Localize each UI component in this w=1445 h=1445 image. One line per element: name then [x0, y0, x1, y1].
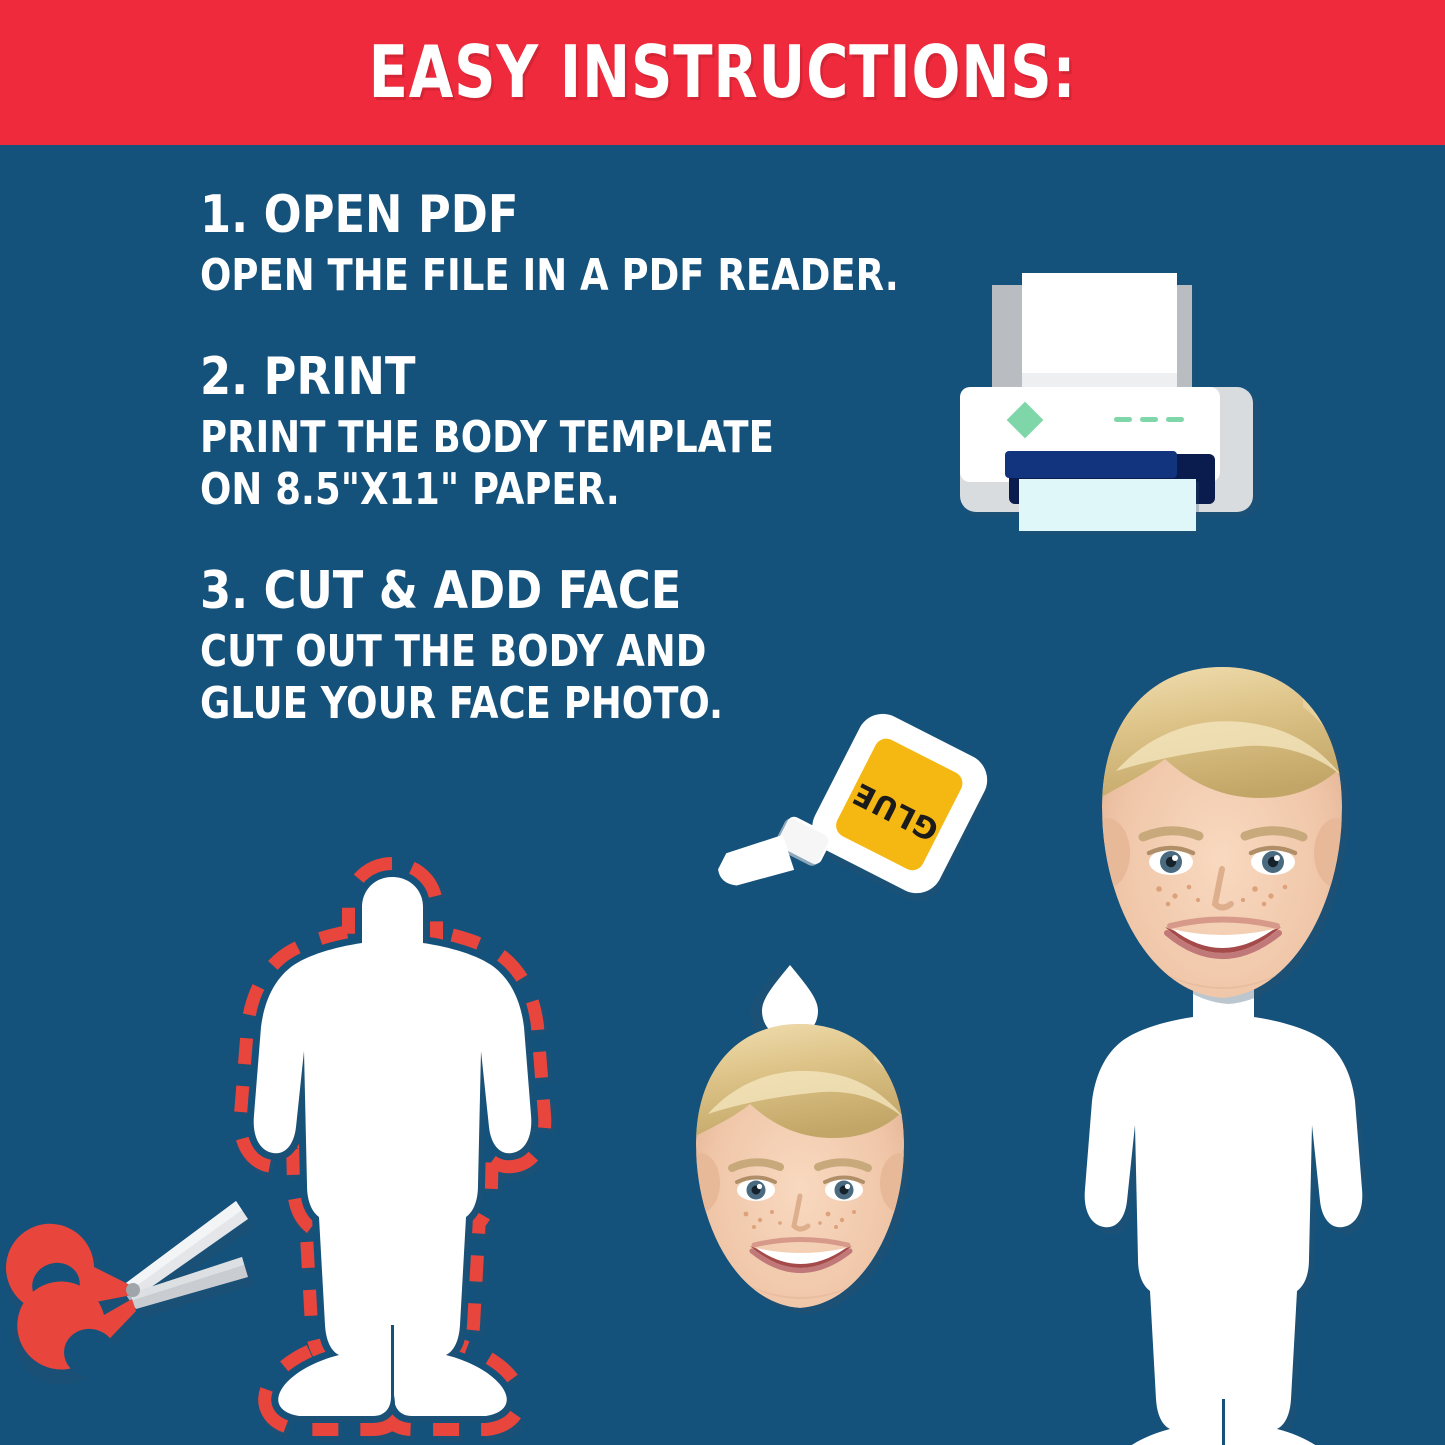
body-template-illustration — [215, 855, 570, 1445]
page-title: EASY INSTRUCTIONS: — [145, 30, 1301, 114]
poster-canvas: EASY INSTRUCTIONS: 1. OPEN PDF OPEN THE … — [0, 0, 1445, 1445]
step-3-line-1: CUT OUT THE BODY AND — [200, 626, 939, 678]
step-3-title: 3. CUT & ADD FACE — [200, 562, 957, 620]
step-2-line-1: PRINT THE BODY TEMPLATE — [200, 412, 939, 464]
step-3: 3. CUT & ADD FACE CUT OUT THE BODY AND G… — [200, 562, 1080, 730]
step-1-title: 1. OPEN PDF — [200, 186, 957, 244]
finished-figure-illustration — [1015, 655, 1435, 1445]
step-1: 1. OPEN PDF OPEN THE FILE IN A PDF READE… — [200, 186, 1080, 302]
instruction-steps: 1. OPEN PDF OPEN THE FILE IN A PDF READE… — [200, 186, 1080, 776]
step-2-line-2: ON 8.5"X11" PAPER. — [200, 464, 939, 516]
printer-icon — [960, 255, 1270, 555]
child-face-cutout — [668, 1018, 933, 1318]
step-2: 2. PRINT PRINT THE BODY TEMPLATE ON 8.5"… — [200, 348, 1080, 516]
glued-face-photo — [1084, 665, 1360, 998]
finished-body-silhouette — [1085, 955, 1363, 1445]
glue-bottle-icon: GLUE — [760, 715, 1030, 1025]
step-2-title: 2. PRINT — [200, 348, 957, 406]
step-1-line-1: OPEN THE FILE IN A PDF READER. — [200, 250, 939, 302]
